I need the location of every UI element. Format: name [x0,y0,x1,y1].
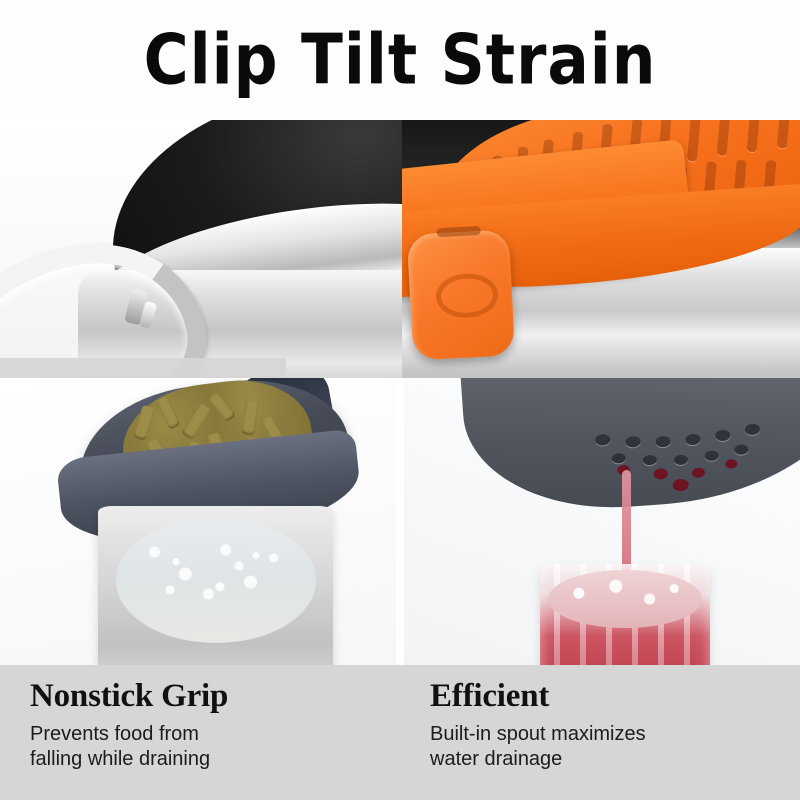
feature-body-line1: Prevents food from [30,723,199,745]
pasta-water-froth [120,522,312,622]
feature-panel-efficient: Efficient Built-in spout maximizes water… [430,679,790,772]
feature-body-efficient: Built-in spout maximizes water drainage [430,722,790,772]
feature-heading-nonstick-grip: Nonstick Grip [30,679,400,715]
feature-body-line2: falling while draining [30,747,400,772]
feature-body-line2: water drainage [430,747,790,772]
clamp-tab [407,229,515,360]
feature-heading-efficient: Efficient [430,679,790,715]
product-infographic: Clip Tilt Strain [0,0,800,800]
feature-body-nonstick-grip: Prevents food from falling while drainin… [30,722,400,772]
photo-pot [0,120,402,378]
feature-panel-nonstick-grip: Nonstick Grip Prevents food from falling… [30,679,400,772]
bottom-caption-bar: Nonstick Grip Prevents food from falling… [0,665,800,800]
clamp-slot [436,226,480,237]
title-band: Clip Tilt Strain [0,0,800,120]
clamp-oval-detail [435,272,499,319]
juice-foam [548,570,702,628]
page-title: Clip Tilt Strain [144,25,657,94]
photo-orange-clip [402,120,800,378]
feature-body-line1: Built-in spout maximizes [430,723,646,745]
top-photo-row: Hands-free Easily clamps to edges for se… [0,120,800,378]
